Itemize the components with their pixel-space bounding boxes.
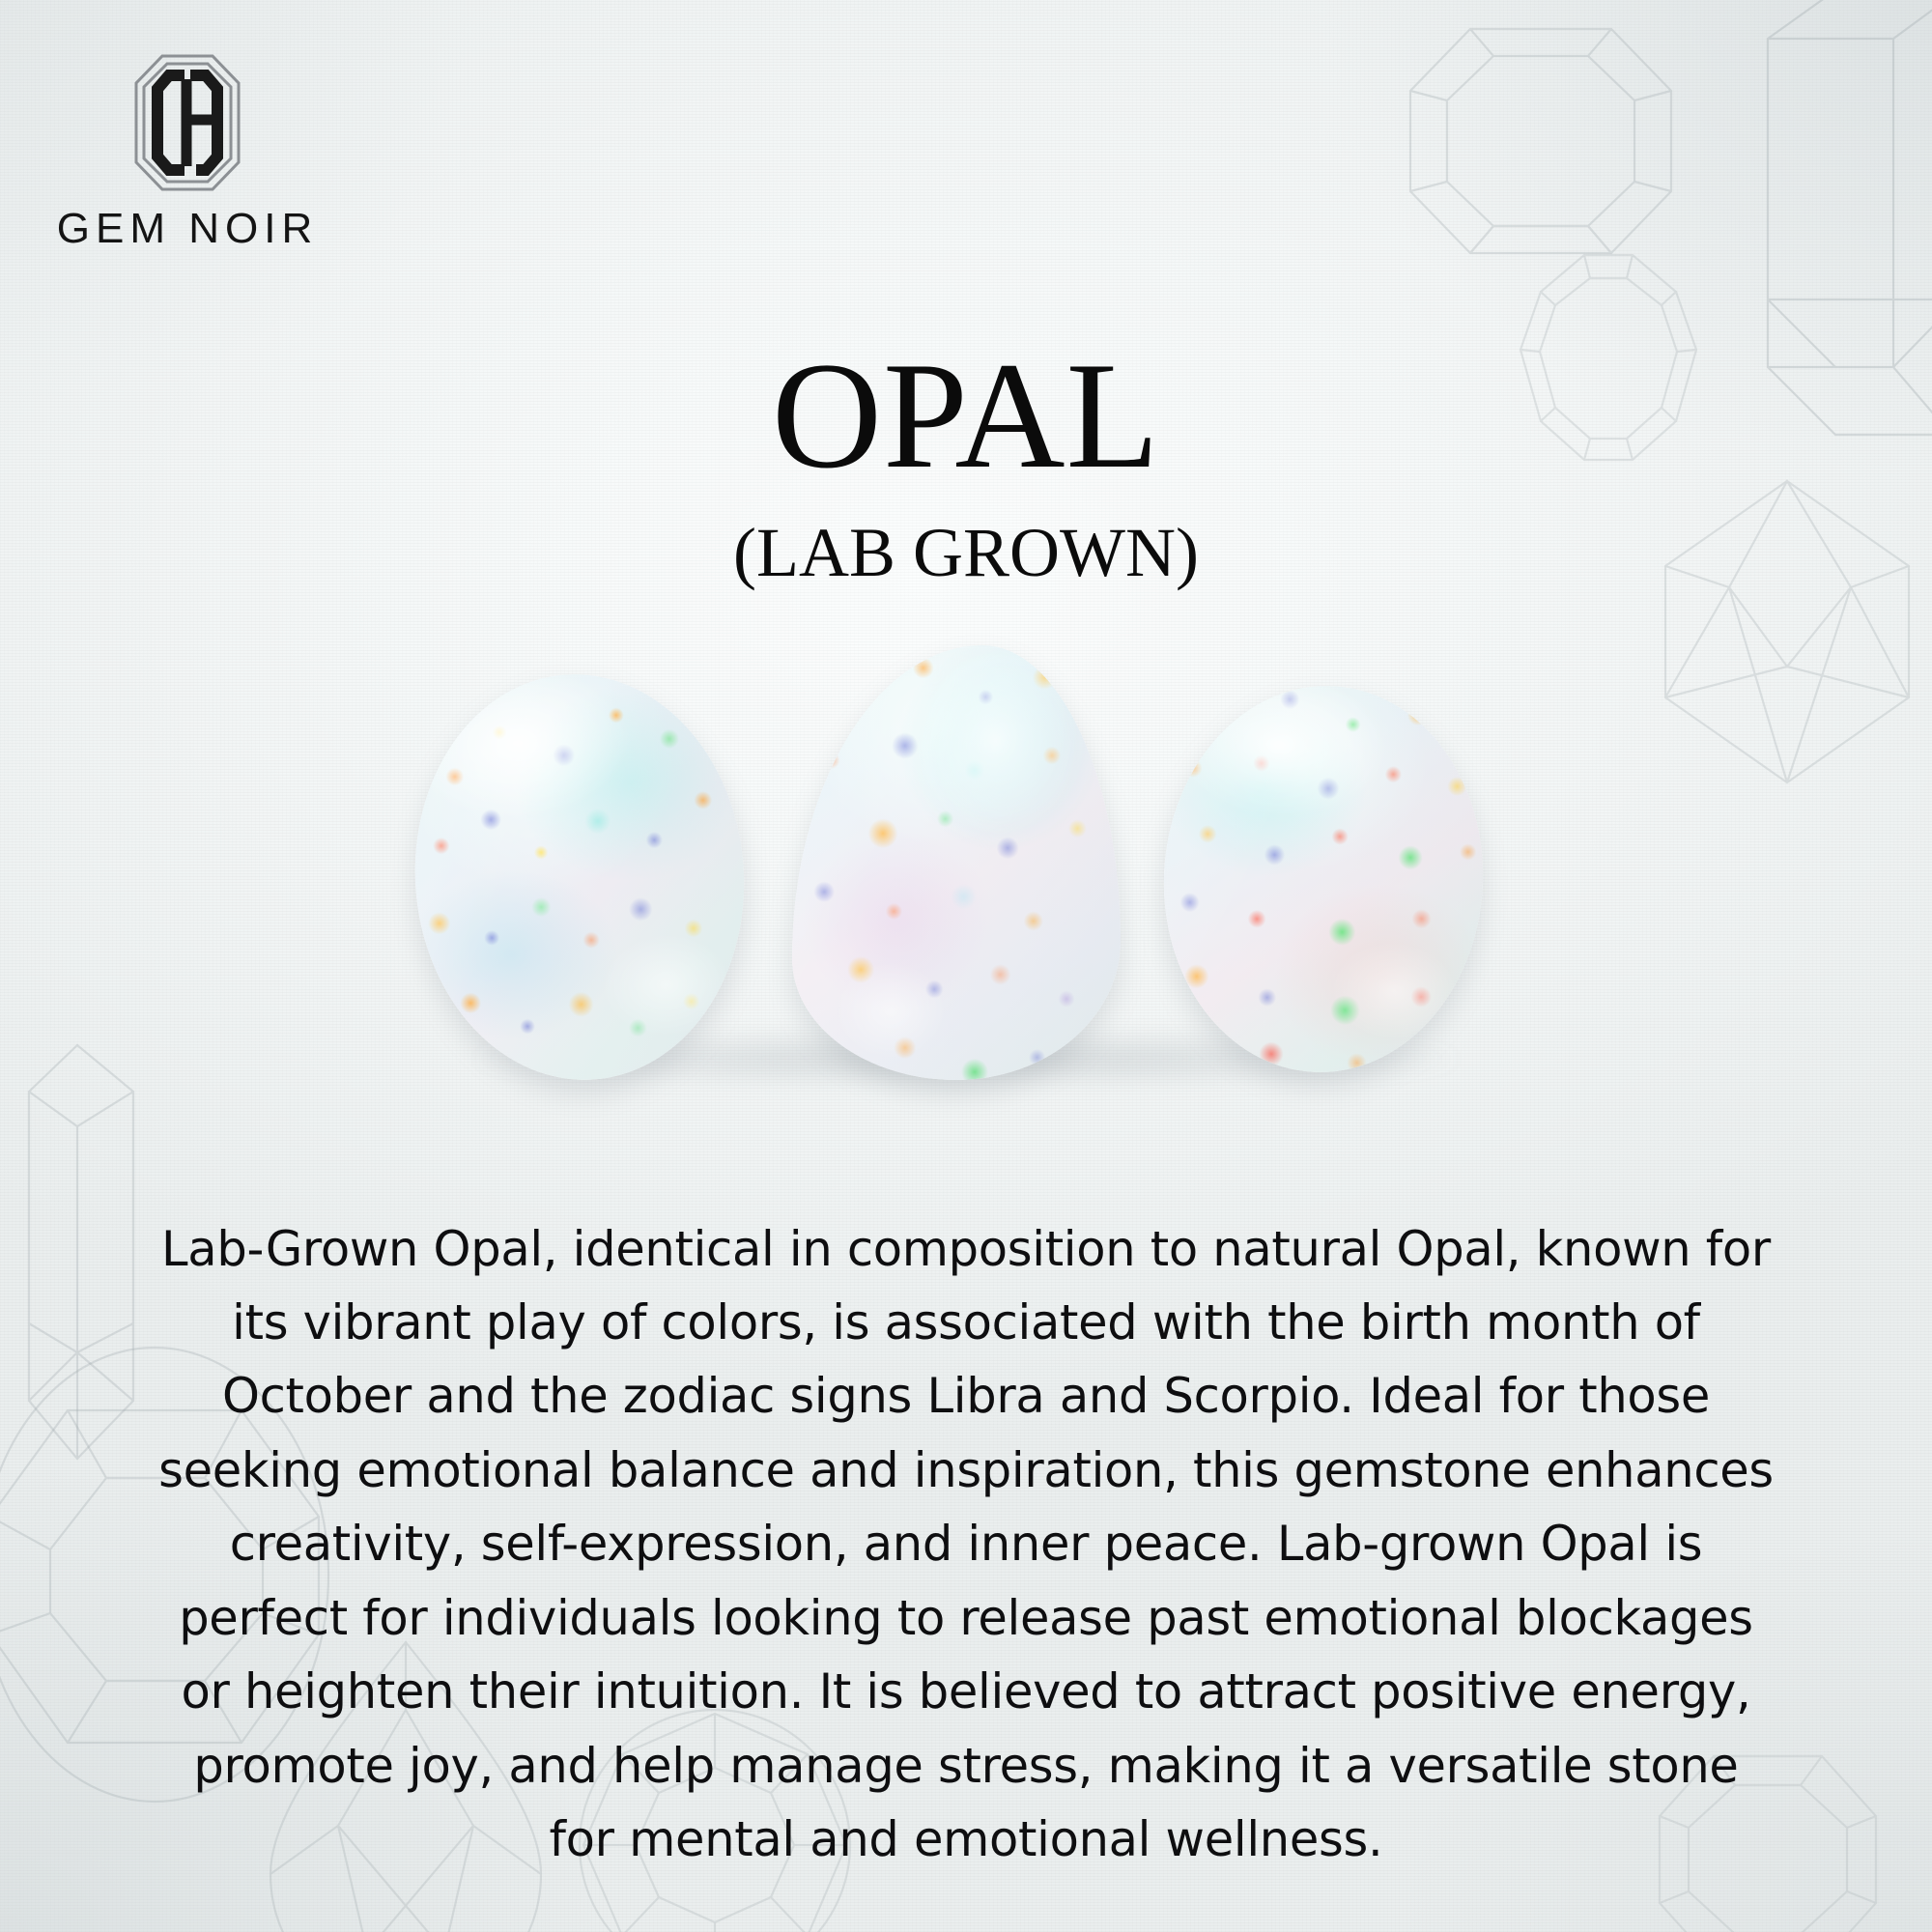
brand-name: GEM NOIR (43, 205, 332, 253)
brand-logo[interactable]: GEM NOIR (43, 50, 332, 253)
gemstone-oval-right (1154, 678, 1492, 1081)
gemstone-pear-center (792, 645, 1121, 1080)
octagon-gem-monogram-icon (130, 50, 244, 195)
product-description: Lab-Grown Opal, identical in composition… (155, 1212, 1777, 1877)
opal-flecks-center (792, 645, 1121, 1080)
gemstone-oval-left (402, 664, 757, 1092)
opal-flecks-left (402, 664, 757, 1092)
opal-flecks-right (1154, 678, 1492, 1081)
page-title: OPAL (LAB GROWN) (0, 340, 1932, 587)
watermark-octagon-gem-icon (1381, 0, 1700, 290)
poster-canvas: GEM NOIR OPAL (LAB GROWN) Lab-Grown Opal… (0, 0, 1932, 1932)
gemstone-group (0, 628, 1932, 1111)
gem-title: OPAL (0, 340, 1932, 493)
gem-subtitle: (LAB GROWN) (0, 518, 1932, 587)
